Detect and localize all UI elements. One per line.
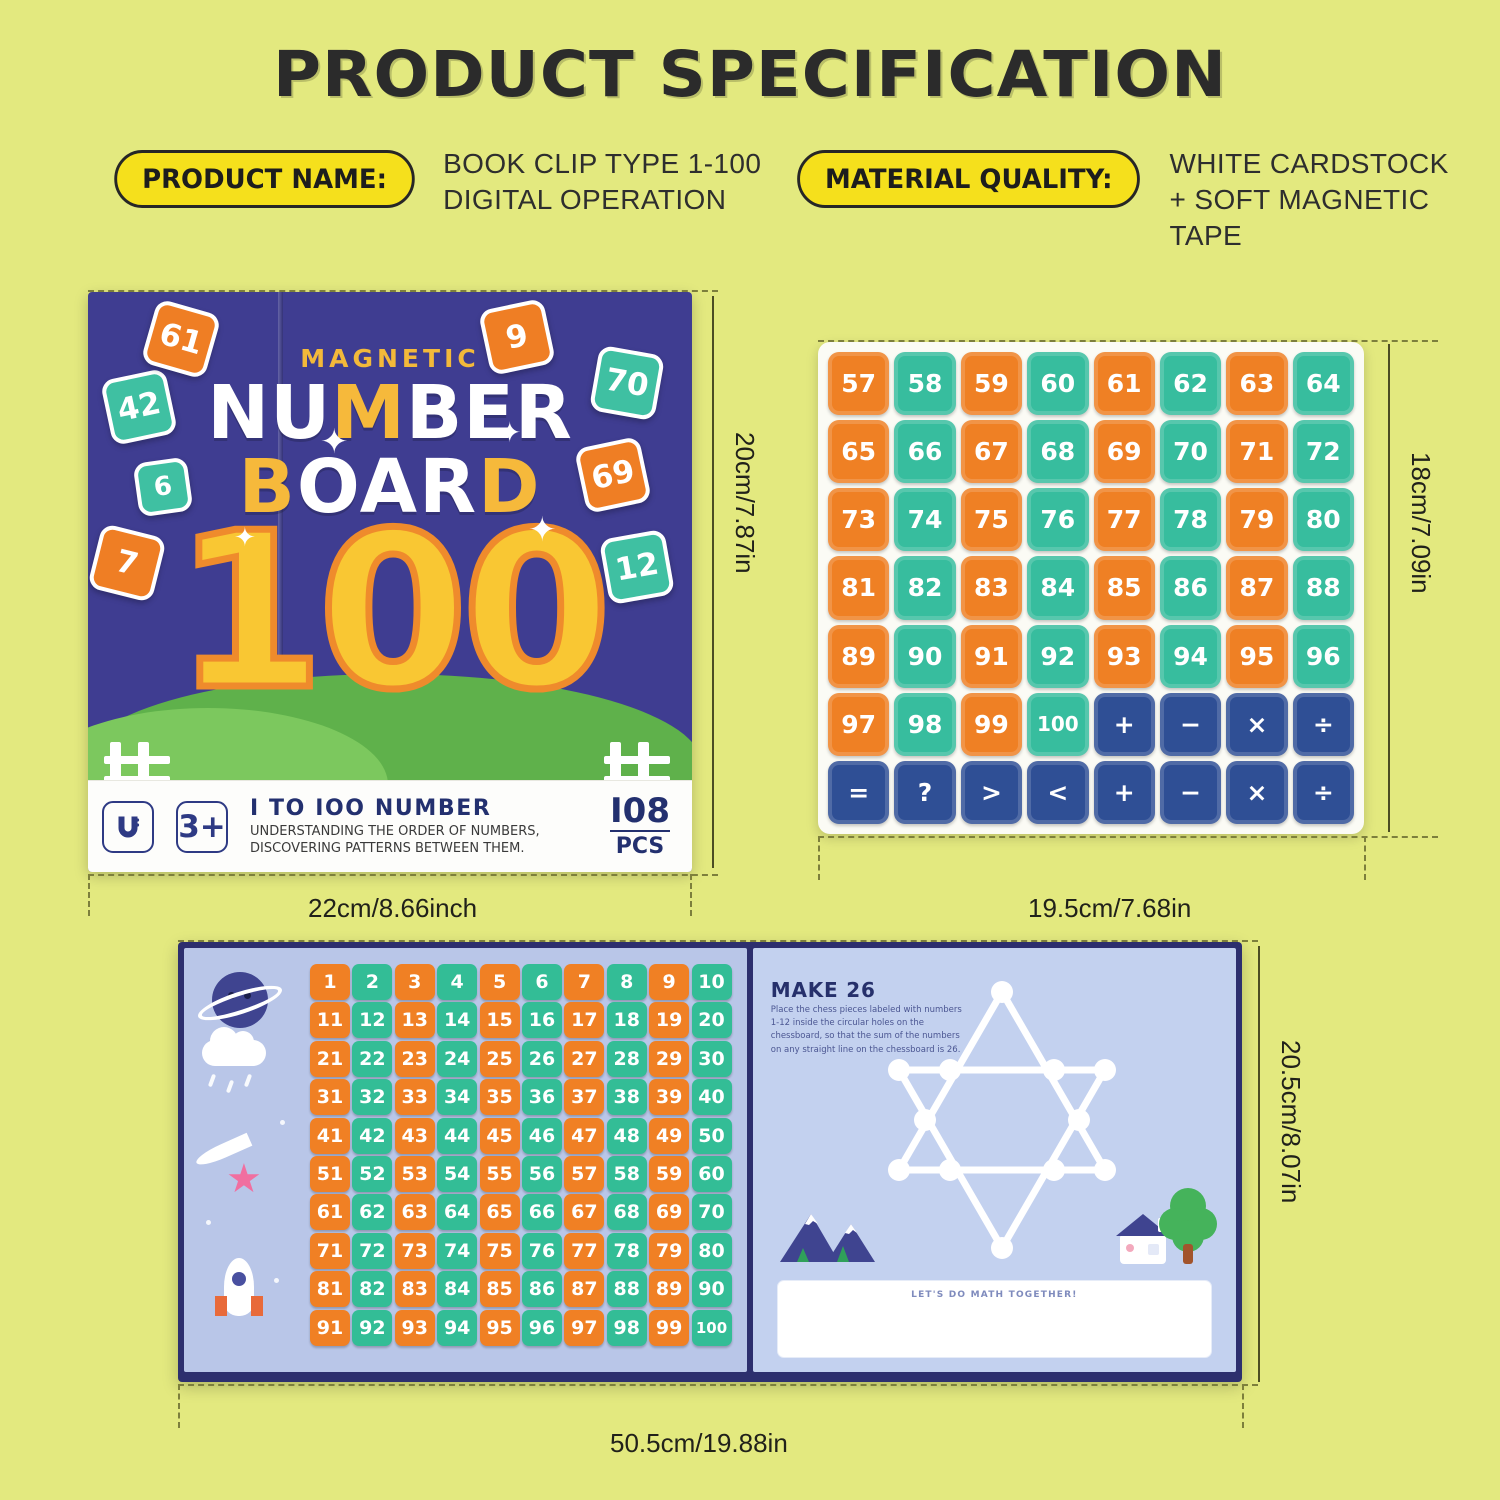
dimension-line-vertical — [712, 296, 714, 868]
board-number-tile[interactable]: 92 — [352, 1310, 392, 1346]
number-tile[interactable]: × — [1226, 761, 1287, 824]
board-number-tile[interactable]: 58 — [607, 1156, 647, 1192]
piece-count-number: I08 — [610, 794, 670, 828]
cover-big-number: 100 — [88, 510, 692, 714]
dimension-line-vertical — [1258, 946, 1260, 1382]
board-number-tile[interactable]: 20 — [692, 1002, 732, 1038]
mountain-icon — [775, 1206, 885, 1264]
star-icon: ★ — [226, 1156, 262, 1202]
number-tile[interactable]: 91 — [961, 625, 1022, 688]
board-number-tile[interactable]: 45 — [480, 1118, 520, 1154]
board-number-tile[interactable]: 6 — [522, 964, 562, 1000]
board-number-tile[interactable]: 76 — [522, 1233, 562, 1269]
board-row: 919293949596979899100 — [310, 1310, 740, 1346]
number-tile[interactable]: − — [1160, 761, 1221, 824]
board-number-tile[interactable]: 56 — [522, 1156, 562, 1192]
board-number-tile[interactable]: 21 — [310, 1041, 350, 1077]
rocket-icon — [224, 1258, 254, 1316]
board-number-tile[interactable]: 72 — [352, 1233, 392, 1269]
magnetic-tile-sheet: 5758596061626364656667686970717273747576… — [818, 342, 1364, 834]
number-tile[interactable]: 59 — [961, 352, 1022, 415]
number-tile[interactable]: 80 — [1293, 488, 1354, 551]
guide-line — [818, 836, 1438, 838]
sparkle-icon: ✦ — [320, 422, 349, 462]
dimension-label-spread-height: 20.5cm/8.07in — [1275, 1040, 1306, 1203]
board-number-tile[interactable]: 17 — [564, 1002, 604, 1038]
board-number-tile[interactable]: 62 — [352, 1194, 392, 1230]
board-number-tile[interactable]: 80 — [692, 1233, 732, 1269]
board-number-tile[interactable]: 90 — [692, 1271, 732, 1307]
number-tile[interactable]: 77 — [1094, 488, 1155, 551]
board-number-tile[interactable]: 70 — [692, 1194, 732, 1230]
number-tile[interactable]: 76 — [1027, 488, 1088, 551]
board-number-tile[interactable]: 88 — [607, 1271, 647, 1307]
board-number-tile[interactable]: 75 — [480, 1233, 520, 1269]
number-tile[interactable]: 65 — [828, 420, 889, 483]
board-number-tile[interactable]: 35 — [480, 1079, 520, 1115]
board-number-tile[interactable]: 59 — [649, 1156, 689, 1192]
board-number-tile[interactable]: 16 — [522, 1002, 562, 1038]
board-number-tile[interactable]: 74 — [437, 1233, 477, 1269]
number-tile[interactable]: 97 — [828, 693, 889, 756]
number-tile[interactable]: = — [828, 761, 889, 824]
piece-count: I08 PCS — [610, 794, 670, 859]
board-number-tile[interactable]: 64 — [437, 1194, 477, 1230]
board-number-tile[interactable]: 78 — [607, 1233, 647, 1269]
number-tile[interactable]: 86 — [1160, 556, 1221, 619]
guide-line — [1364, 836, 1366, 880]
guide-line — [178, 940, 1258, 942]
guide-line — [1242, 1384, 1244, 1428]
board-number-tile[interactable]: 41 — [310, 1118, 350, 1154]
board-row: 12345678910 — [310, 964, 740, 1000]
board-number-tile[interactable]: 29 — [649, 1041, 689, 1077]
tile-sheet-grid: 5758596061626364656667686970717273747576… — [828, 352, 1354, 824]
board-number-tile[interactable]: 47 — [564, 1118, 604, 1154]
guide-line — [690, 874, 692, 916]
board-number-tile[interactable]: 24 — [437, 1041, 477, 1077]
guide-line — [88, 290, 718, 292]
board-number-tile[interactable]: 66 — [522, 1194, 562, 1230]
board-number-tile[interactable]: 38 — [607, 1079, 647, 1115]
dimension-line-vertical — [1388, 344, 1390, 832]
number-tile[interactable]: 90 — [894, 625, 955, 688]
board-number-tile[interactable]: 40 — [692, 1079, 732, 1115]
board-number-tile[interactable]: 11 — [310, 1002, 350, 1038]
dimension-label-spread-width: 50.5cm/19.88in — [610, 1428, 788, 1459]
cover-tile: 9 — [478, 298, 556, 376]
board-number-tile[interactable]: 55 — [480, 1156, 520, 1192]
number-tile[interactable]: 74 — [894, 488, 955, 551]
number-tile[interactable]: 82 — [894, 556, 955, 619]
board-row: 31323334353637383940 — [310, 1079, 740, 1115]
board-number-tile[interactable]: 67 — [564, 1194, 604, 1230]
writing-note-area[interactable]: LET'S DO MATH TOGETHER! — [777, 1280, 1212, 1358]
dimension-label-box-height: 20cm/7.87in — [729, 432, 760, 574]
number-tile[interactable]: 63 — [1226, 352, 1287, 415]
board-number-tile[interactable]: 51 — [310, 1156, 350, 1192]
spec-product-name: PRODUCT NAME: BOOK CLIP TYPE 1-100 DIGIT… — [108, 150, 761, 218]
book-page-left: ★ 12345678910111213141516171819202122232… — [184, 948, 747, 1372]
sparkle-icon: ✦ — [498, 416, 521, 449]
board-number-tile[interactable]: 89 — [649, 1271, 689, 1307]
board-number-tile[interactable]: 85 — [480, 1271, 520, 1307]
spec-material-quality: MATERIAL QUALITY: WHITE CARDSTOCK + SOFT… — [790, 150, 1500, 253]
board-number-tile[interactable]: 48 — [607, 1118, 647, 1154]
spec-row: PRODUCT NAME: BOOK CLIP TYPE 1-100 DIGIT… — [0, 150, 1500, 240]
board-number-tile[interactable]: 32 — [352, 1079, 392, 1115]
spec-value-product-name: BOOK CLIP TYPE 1-100 DIGITAL OPERATION — [443, 146, 761, 218]
number-tile[interactable]: 99 — [961, 693, 1022, 756]
board-number-tile[interactable]: 37 — [564, 1079, 604, 1115]
number-tile[interactable]: 67 — [961, 420, 1022, 483]
spec-label-product-name: PRODUCT NAME: — [114, 150, 415, 208]
board-number-tile[interactable]: 57 — [564, 1156, 604, 1192]
board-number-tile[interactable]: 81 — [310, 1271, 350, 1307]
dimension-label-box-width: 22cm/8.66inch — [308, 893, 477, 924]
board-number-tile[interactable]: 63 — [395, 1194, 435, 1230]
number-tile[interactable]: + — [1094, 761, 1155, 824]
number-tile[interactable]: 60 — [1027, 352, 1088, 415]
board-number-tile[interactable]: 5 — [480, 964, 520, 1000]
board-number-tile[interactable]: 79 — [649, 1233, 689, 1269]
number-tile[interactable]: 85 — [1094, 556, 1155, 619]
number-tile[interactable]: 78 — [1160, 488, 1221, 551]
star-dot-icon — [274, 1278, 279, 1283]
board-number-tile[interactable]: 4 — [437, 964, 477, 1000]
magnet-icon — [102, 801, 154, 853]
number-tile[interactable]: 96 — [1293, 625, 1354, 688]
number-tile[interactable]: 68 — [1027, 420, 1088, 483]
board-number-tile[interactable]: 15 — [480, 1002, 520, 1038]
product-box-cover: MAGNETIC NUMBER BOARD 100 ✦ ✦ ✦ ✦ 42 61 … — [88, 292, 692, 872]
board-number-tile[interactable]: 8 — [607, 964, 647, 1000]
open-book-spread: ★ 12345678910111213141516171819202122232… — [178, 942, 1242, 1382]
board-number-tile[interactable]: 28 — [607, 1041, 647, 1077]
number-tile[interactable]: 98 — [894, 693, 955, 756]
number-tile[interactable]: 72 — [1293, 420, 1354, 483]
number-tile[interactable]: 93 — [1094, 625, 1155, 688]
number-tile[interactable]: 83 — [961, 556, 1022, 619]
board-number-tile[interactable]: 97 — [564, 1310, 604, 1346]
spec-label-material-quality: MATERIAL QUALITY: — [797, 150, 1140, 208]
board-number-tile[interactable]: 96 — [522, 1310, 562, 1346]
board-number-tile[interactable]: 18 — [607, 1002, 647, 1038]
board-number-tile[interactable]: 95 — [480, 1310, 520, 1346]
guide-line — [818, 340, 1438, 342]
board-number-tile[interactable]: 27 — [564, 1041, 604, 1077]
board-number-tile[interactable]: 65 — [480, 1194, 520, 1230]
sparkle-icon: ✦ — [528, 510, 557, 550]
number-tile[interactable]: 88 — [1293, 556, 1354, 619]
cover-tile: 70 — [589, 345, 665, 421]
board-number-tile[interactable]: 22 — [352, 1041, 392, 1077]
box-info-description: UNDERSTANDING THE ORDER OF NUMBERS, DISC… — [250, 824, 610, 858]
number-tile[interactable]: 87 — [1226, 556, 1287, 619]
board-number-tile[interactable]: 50 — [692, 1118, 732, 1154]
number-tile[interactable]: 69 — [1094, 420, 1155, 483]
number-tile[interactable]: 64 — [1293, 352, 1354, 415]
hundred-board-grid: 1234567891011121314151617181920212223242… — [310, 964, 740, 1348]
board-number-tile[interactable]: 44 — [437, 1118, 477, 1154]
page-title: PRODUCT SPECIFICATION — [0, 38, 1500, 111]
board-number-tile[interactable]: 53 — [395, 1156, 435, 1192]
board-number-tile[interactable]: 46 — [522, 1118, 562, 1154]
board-number-tile[interactable]: 82 — [352, 1271, 392, 1307]
number-tile[interactable]: 89 — [828, 625, 889, 688]
board-number-tile[interactable]: 87 — [564, 1271, 604, 1307]
rain-drop-icon — [208, 1074, 216, 1088]
number-tile[interactable]: 92 — [1027, 625, 1088, 688]
number-tile[interactable]: 57 — [828, 352, 889, 415]
number-tile[interactable]: 94 — [1160, 625, 1221, 688]
number-tile[interactable]: 84 — [1027, 556, 1088, 619]
board-number-tile[interactable]: 77 — [564, 1233, 604, 1269]
box-info-heading: I TO IOO NUMBER — [250, 796, 610, 821]
planet-icon — [212, 972, 268, 1028]
number-tile[interactable]: < — [1027, 761, 1088, 824]
tree-icon — [1158, 1184, 1218, 1268]
board-number-tile[interactable]: 39 — [649, 1079, 689, 1115]
board-number-tile[interactable]: 26 — [522, 1041, 562, 1077]
board-row: 61626364656667686970 — [310, 1194, 740, 1230]
board-row: 21222324252627282930 — [310, 1041, 740, 1077]
cover-tile: 6 — [133, 457, 194, 518]
board-number-tile[interactable]: 19 — [649, 1002, 689, 1038]
board-number-tile[interactable]: 23 — [395, 1041, 435, 1077]
star-dot-icon — [206, 1220, 211, 1225]
board-number-tile[interactable]: 49 — [649, 1118, 689, 1154]
board-row: 81828384858687888990 — [310, 1271, 740, 1307]
box-info-text: I TO IOO NUMBER UNDERSTANDING THE ORDER … — [250, 796, 610, 858]
number-tile[interactable]: + — [1094, 693, 1155, 756]
number-tile[interactable]: 70 — [1160, 420, 1221, 483]
board-number-tile[interactable]: 13 — [395, 1002, 435, 1038]
board-number-tile[interactable]: 100 — [692, 1310, 732, 1346]
board-number-tile[interactable]: 30 — [692, 1041, 732, 1077]
guide-line — [88, 874, 90, 916]
board-number-tile[interactable]: 86 — [522, 1271, 562, 1307]
number-tile[interactable]: 95 — [1226, 625, 1287, 688]
cover-tile: 42 — [100, 368, 178, 446]
board-number-tile[interactable]: 2 — [352, 964, 392, 1000]
box-info-strip: 3+ I TO IOO NUMBER UNDERSTANDING THE ORD… — [88, 780, 692, 872]
guide-line — [88, 874, 718, 876]
board-number-tile[interactable]: 1 — [310, 964, 350, 1000]
board-number-tile[interactable]: 10 — [692, 964, 732, 1000]
number-tile[interactable]: 58 — [894, 352, 955, 415]
number-tile[interactable]: × — [1226, 693, 1287, 756]
number-tile[interactable]: ÷ — [1293, 761, 1354, 824]
star-dot-icon — [280, 1120, 285, 1125]
dimension-label-sheet-height: 18cm/7.09in — [1405, 452, 1436, 594]
board-number-tile[interactable]: 73 — [395, 1233, 435, 1269]
guide-line — [178, 1384, 180, 1428]
number-tile[interactable]: 73 — [828, 488, 889, 551]
board-number-tile[interactable]: 83 — [395, 1271, 435, 1307]
board-number-tile[interactable]: 33 — [395, 1079, 435, 1115]
number-tile[interactable]: − — [1160, 693, 1221, 756]
board-row: 41424344454647484950 — [310, 1118, 740, 1154]
board-row: 71727374757677787980 — [310, 1233, 740, 1269]
number-tile[interactable]: 100 — [1027, 693, 1088, 756]
rain-drop-icon — [226, 1080, 234, 1094]
board-number-tile[interactable]: 31 — [310, 1079, 350, 1115]
number-tile[interactable]: > — [961, 761, 1022, 824]
board-number-tile[interactable]: 68 — [607, 1194, 647, 1230]
board-number-tile[interactable]: 98 — [607, 1310, 647, 1346]
number-tile[interactable]: 61 — [1094, 352, 1155, 415]
board-number-tile[interactable]: 36 — [522, 1079, 562, 1115]
age-badge: 3+ — [176, 801, 228, 853]
board-row: 51525354555657585960 — [310, 1156, 740, 1192]
number-tile[interactable]: ? — [894, 761, 955, 824]
board-number-tile[interactable]: 60 — [692, 1156, 732, 1192]
board-number-tile[interactable]: 84 — [437, 1271, 477, 1307]
board-number-tile[interactable]: 42 — [352, 1118, 392, 1154]
board-number-tile[interactable]: 25 — [480, 1041, 520, 1077]
number-tile[interactable]: ÷ — [1293, 693, 1354, 756]
board-number-tile[interactable]: 61 — [310, 1194, 350, 1230]
cloud-icon — [202, 1040, 266, 1066]
rain-drop-icon — [244, 1074, 252, 1088]
number-tile[interactable]: 75 — [961, 488, 1022, 551]
board-number-tile[interactable]: 99 — [649, 1310, 689, 1346]
note-caption: LET'S DO MATH TOGETHER! — [778, 1290, 1211, 1300]
number-tile[interactable]: 62 — [1160, 352, 1221, 415]
board-number-tile[interactable]: 71 — [310, 1233, 350, 1269]
cover-tile: 12 — [599, 529, 675, 605]
sparkle-icon: ✦ — [234, 522, 256, 553]
board-number-tile[interactable]: 9 — [649, 964, 689, 1000]
board-number-tile[interactable]: 54 — [437, 1156, 477, 1192]
board-number-tile[interactable]: 94 — [437, 1310, 477, 1346]
guide-line — [818, 836, 820, 880]
board-number-tile[interactable]: 34 — [437, 1079, 477, 1115]
book-page-right: MAKE 26 Place the chess pieces labeled w… — [753, 948, 1236, 1372]
board-number-tile[interactable]: 3 — [395, 964, 435, 1000]
number-tile[interactable]: 71 — [1226, 420, 1287, 483]
dimension-label-sheet-width: 19.5cm/7.68in — [1028, 893, 1191, 924]
board-number-tile[interactable]: 69 — [649, 1194, 689, 1230]
number-tile[interactable]: 79 — [1226, 488, 1287, 551]
board-number-tile[interactable]: 91 — [310, 1310, 350, 1346]
number-tile[interactable]: 66 — [894, 420, 955, 483]
board-number-tile[interactable]: 7 — [564, 964, 604, 1000]
cover-tile: 69 — [574, 436, 652, 514]
guide-line — [178, 1384, 1258, 1386]
number-tile[interactable]: 81 — [828, 556, 889, 619]
board-number-tile[interactable]: 14 — [437, 1002, 477, 1038]
piece-count-unit: PCS — [610, 830, 670, 859]
spec-value-material-quality: WHITE CARDSTOCK + SOFT MAGNETIC TAPE — [1169, 146, 1500, 253]
board-number-tile[interactable]: 43 — [395, 1118, 435, 1154]
board-row: 11121314151617181920 — [310, 1002, 740, 1038]
board-number-tile[interactable]: 12 — [352, 1002, 392, 1038]
board-number-tile[interactable]: 93 — [395, 1310, 435, 1346]
board-number-tile[interactable]: 52 — [352, 1156, 392, 1192]
